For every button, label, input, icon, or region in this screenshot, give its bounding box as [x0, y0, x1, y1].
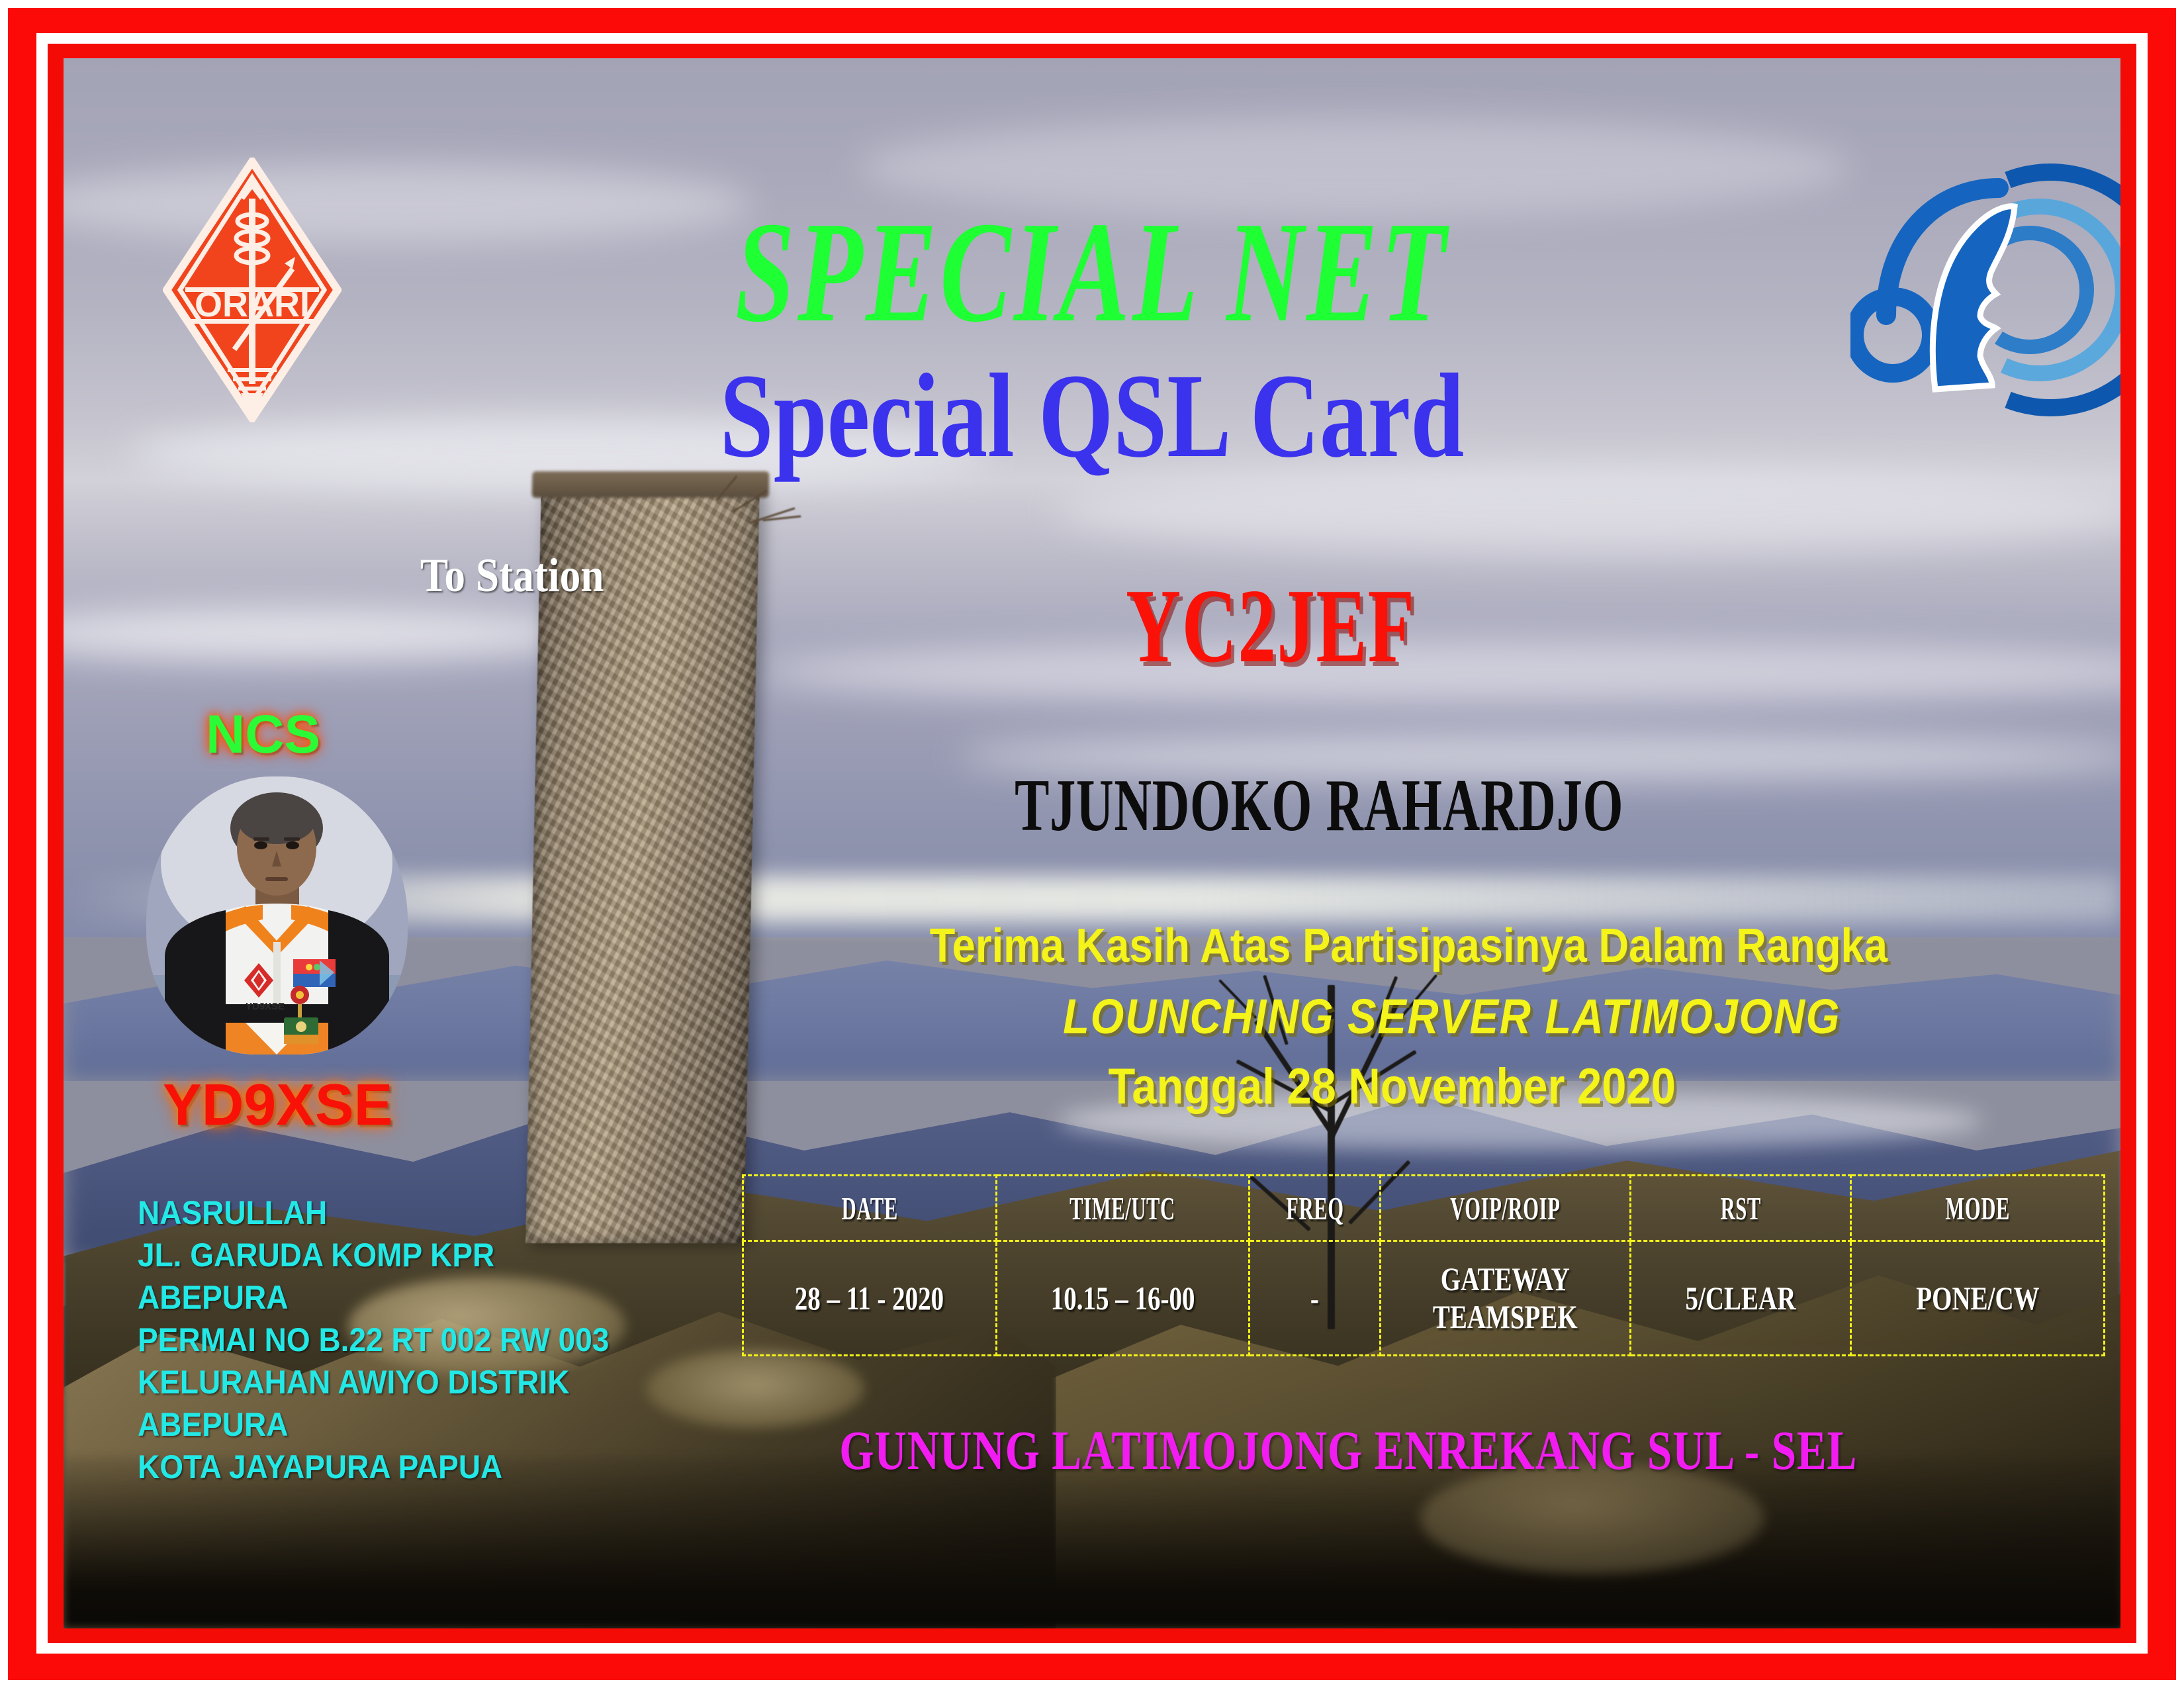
footer-slogan: "AMATIR RADIO ADALAH PROGRESIVE" [298, 1627, 1164, 1628]
thanks-line-1: Terima Kasih Atas Partisipasinya Dalam R… [930, 919, 1888, 973]
column-header-time: TIME/UTC [1021, 1176, 1224, 1241]
column-header-mode: MODE [1876, 1176, 2079, 1241]
address-line: ABEPURA [138, 1403, 637, 1446]
page-title: SPECIAL NET [331, 201, 1853, 345]
page-subtitle: Special QSL Card [269, 356, 1915, 477]
address-line: KELURAHAN AWIYO DISTRIK [138, 1361, 637, 1403]
operator-portrait-photo: YD9XSE [146, 776, 408, 1055]
ncs-label: NCS [206, 704, 320, 766]
address-line: PERMAI NO B.22 RT 002 RW 003 [138, 1319, 637, 1361]
ncs-callsign: YD9XSE [163, 1071, 392, 1139]
cell-date: 28 – 11 - 2020 [743, 1241, 997, 1356]
cell-freq: - [1250, 1241, 1380, 1356]
thanks-line-2: LOUNCHING SERVER LATIMOJONG [1063, 988, 1841, 1045]
table-row: 28 – 11 - 2020 10.15 – 16-00 - GATEWAY T… [743, 1241, 2105, 1356]
location-caption: GUNUNG LATIMOJONG ENREKANG SUL - SEL [839, 1419, 1857, 1483]
column-header-freq: FREQ [1262, 1176, 1367, 1241]
footer-web-address: Address : amatir.latimojong.com [1394, 1627, 2063, 1628]
address-line: KOTA JAYAPURA PAPUA [138, 1446, 637, 1488]
cell-rst: 5/CLEAR [1631, 1241, 1851, 1356]
cell-mode: PONE/CW [1851, 1241, 2105, 1356]
operator-name: TJUNDOKO RAHARDJO [1015, 763, 1623, 849]
address-line: NASRULLAH [138, 1192, 637, 1234]
rock-highlight [646, 1349, 864, 1429]
column-header-rst: RST [1653, 1176, 1829, 1241]
station-callsign: YC2JEF [1126, 565, 1415, 687]
address-line: ABEPURA [138, 1276, 637, 1319]
to-station-label: To Station [420, 548, 604, 603]
address-line: JL. GARUDA KOMP KPR [138, 1234, 637, 1276]
uniform-callsign-text: YD9XSE [246, 1001, 285, 1012]
column-header-voip: VOIP/ROIP [1405, 1176, 1606, 1241]
table-header-row: DATE TIME/UTC FREQ VOIP/ROIP RST MODE [743, 1176, 2105, 1241]
thanks-line-3: Tanggal 28 November 2020 [1108, 1058, 1675, 1115]
qsl-card: ORARI [0, 0, 2184, 1688]
mailing-address-block: NASRULLAH JL. GARUDA KOMP KPR ABEPURA PE… [138, 1192, 637, 1488]
cell-voip: GATEWAY TEAMSPEK [1380, 1241, 1630, 1356]
orari-wordmark: ORARI [195, 285, 310, 324]
cell-time: 10.15 – 16-00 [996, 1241, 1250, 1356]
column-header-date: DATE [768, 1176, 971, 1241]
qso-log-table: DATE TIME/UTC FREQ VOIP/ROIP RST MODE 28… [742, 1174, 2105, 1356]
background-photo: ORARI [64, 58, 2120, 1628]
